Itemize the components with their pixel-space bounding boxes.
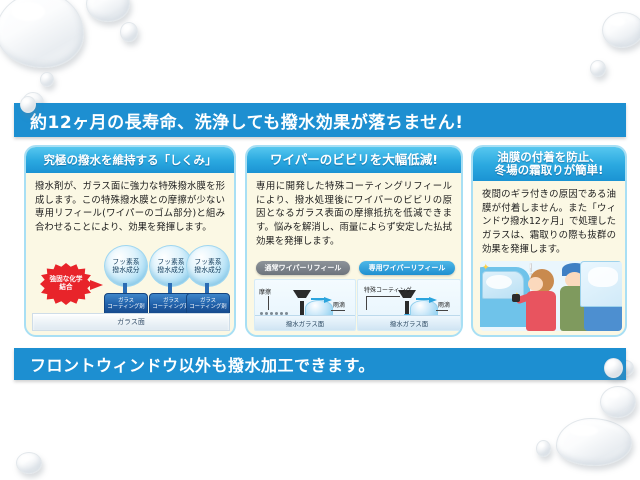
- water-droplet-icon: [600, 386, 636, 418]
- bottom-banner: フロントウィンドウ以外も撥水加工できます。: [14, 348, 626, 380]
- panel-oil-film-frost-header: 油膜の付着を防止、 冬場の霜取りが簡単!: [473, 147, 625, 181]
- water-repellent-glass-label: 撥水ガラス面: [390, 319, 428, 328]
- water-repellent-glass-label: 撥水ガラス面: [286, 319, 324, 328]
- starburst-text: 強固な化学結合: [49, 276, 83, 291]
- normal-refill-diagram: 通常ワイパーリフィール 摩擦 雨滴 撥水ガラス面: [254, 261, 354, 331]
- glass-surface-label: ガラス面: [117, 317, 145, 327]
- normal-refill-tag-label: 通常ワイパーリフィール: [265, 263, 342, 273]
- frost-patch: [486, 275, 512, 289]
- coating-line2: コーティング剤: [189, 304, 226, 310]
- friction-lead-line: [268, 296, 269, 310]
- coating-label: 特殊コーティング: [364, 285, 412, 294]
- coating-lead-line: [366, 296, 400, 297]
- friction-label: 摩擦: [259, 287, 271, 296]
- water-droplet-icon: [120, 22, 138, 42]
- motion-arrow-icon: [324, 297, 332, 303]
- water-droplet-icon: [556, 418, 632, 466]
- frost-patch: [588, 267, 618, 287]
- water-label: 雨滴: [438, 300, 450, 309]
- panel-mechanism-header: 究極の撥水を維持する「しくみ」: [26, 147, 234, 173]
- normal-refill-tag: 通常ワイパーリフィール: [256, 261, 350, 275]
- wiper-blade-icon: [293, 290, 311, 316]
- glass-coating-block: ガラス コーティング剤: [186, 293, 230, 315]
- water-droplet-icon: [602, 12, 640, 48]
- glass-coating-block: ガラス コーティング剤: [104, 293, 148, 315]
- coating-line2: コーティング剤: [107, 304, 144, 310]
- water-droplet-icon: [0, 0, 84, 68]
- special-refill-diagram: 専用ワイパーリフィール 特殊コーティング 雨滴 撥水ガラス面: [357, 261, 459, 331]
- panel-wiper-judder-header: ワイパーのビビリを大幅低減!: [247, 147, 461, 173]
- water-droplet-icon: [86, 0, 130, 22]
- top-banner-text: 約12ヶ月の長寿命、洗浄しても撥水効果が落ちません!: [14, 108, 464, 133]
- panel3-header-line2: 冬場の霜取りが簡単!: [495, 164, 604, 177]
- mechanism-diagram: 強固な化学結合 フッ素系 撥水成分 フッ素系 撥水成分 フッ素系 撥水成分: [32, 245, 228, 331]
- bubble-line2: 撥水成分: [157, 266, 184, 274]
- glass-surface-bar: ガラス面: [32, 313, 230, 331]
- motion-arrow-line: [311, 298, 325, 300]
- face: [528, 277, 543, 291]
- normal-refill-stage: 摩擦 雨滴 撥水ガラス面: [254, 279, 356, 331]
- special-refill-tag: 専用ワイパーリフィール: [359, 261, 455, 275]
- water-label: 雨滴: [333, 300, 345, 309]
- water-droplet-icon: [40, 72, 54, 87]
- hand-scraper: [512, 294, 520, 302]
- water-repellent-glass-strip: 撥水ガラス面: [358, 315, 460, 330]
- water-droplet-icon: [604, 358, 623, 378]
- frost-scraping-illustration: ✦ ✦ ❕: [480, 261, 622, 331]
- bubble-line1: フッ素系: [157, 258, 184, 266]
- top-banner: 約12ヶ月の長寿命、洗浄しても撥水効果が落ちません!: [14, 103, 626, 137]
- fluorine-bubble: フッ素系 撥水成分: [186, 245, 230, 287]
- panel-oil-film-frost-body: 夜間のギラ付きの原因である油膜が付着しません。また「ウィンドウ撥水12ヶ月」で処…: [473, 181, 625, 255]
- water-lead-line: [436, 310, 448, 311]
- water-repellent-glass-strip: 撥水ガラス面: [255, 315, 355, 330]
- water-droplet-icon: [536, 440, 551, 457]
- chemical-bond-starburst: 強固な化学結合: [40, 263, 92, 305]
- sparkle-icon: ✦: [482, 263, 490, 273]
- person-woman: [524, 267, 558, 331]
- bubble-line2: 撥水成分: [112, 266, 139, 274]
- water-lead-line: [331, 310, 345, 311]
- fluorine-bubble: フッ素系 撥水成分: [104, 245, 148, 287]
- advertisement-stage: 約12ヶ月の長寿命、洗浄しても撥水効果が落ちません! 究極の撥水を維持する「しく…: [0, 0, 640, 480]
- bottom-banner-text: フロントウィンドウ以外も撥水加工できます。: [14, 352, 375, 376]
- panel-mechanism-body: 撥水剤が、ガラス面に強力な特殊撥水膜を形成します。この特殊撥水膜との摩擦が少ない…: [26, 173, 234, 237]
- bubble-line2: 撥水成分: [194, 266, 221, 274]
- bubble-line1: フッ素系: [194, 258, 221, 266]
- panel-wiper-judder: ワイパーのビビリを大幅低減! 専用に開発した特殊コーティングリフィールにより、撥…: [245, 145, 463, 337]
- special-refill-tag-label: 専用ワイパーリフィール: [369, 263, 446, 273]
- panel-oil-film-frost: 油膜の付着を防止、 冬場の霜取りが簡単! 夜間のギラ付きの原因である油膜が付着し…: [471, 145, 627, 337]
- panel-mechanism: 究極の撥水を維持する「しくみ」 撥水剤が、ガラス面に強力な特殊撥水膜を形成します…: [24, 145, 236, 337]
- bubble-line1: フッ素系: [112, 258, 139, 266]
- panel-wiper-judder-body: 専用に開発した特殊コーティングリフィールにより、撥水処理後にワイパーのビビリの原…: [247, 173, 461, 251]
- coating-line2: コーティング剤: [152, 304, 189, 310]
- water-droplet-icon: [20, 96, 36, 113]
- special-refill-stage: 特殊コーティング 雨滴 撥水ガラス面: [357, 279, 461, 331]
- water-droplet-icon: [16, 452, 42, 474]
- motion-arrow-line: [416, 298, 430, 300]
- water-droplet-icon: [590, 60, 606, 77]
- coating-lead-line: [366, 296, 367, 310]
- bond-arrow-icon: [90, 280, 103, 290]
- motion-arrow-icon: [429, 297, 437, 303]
